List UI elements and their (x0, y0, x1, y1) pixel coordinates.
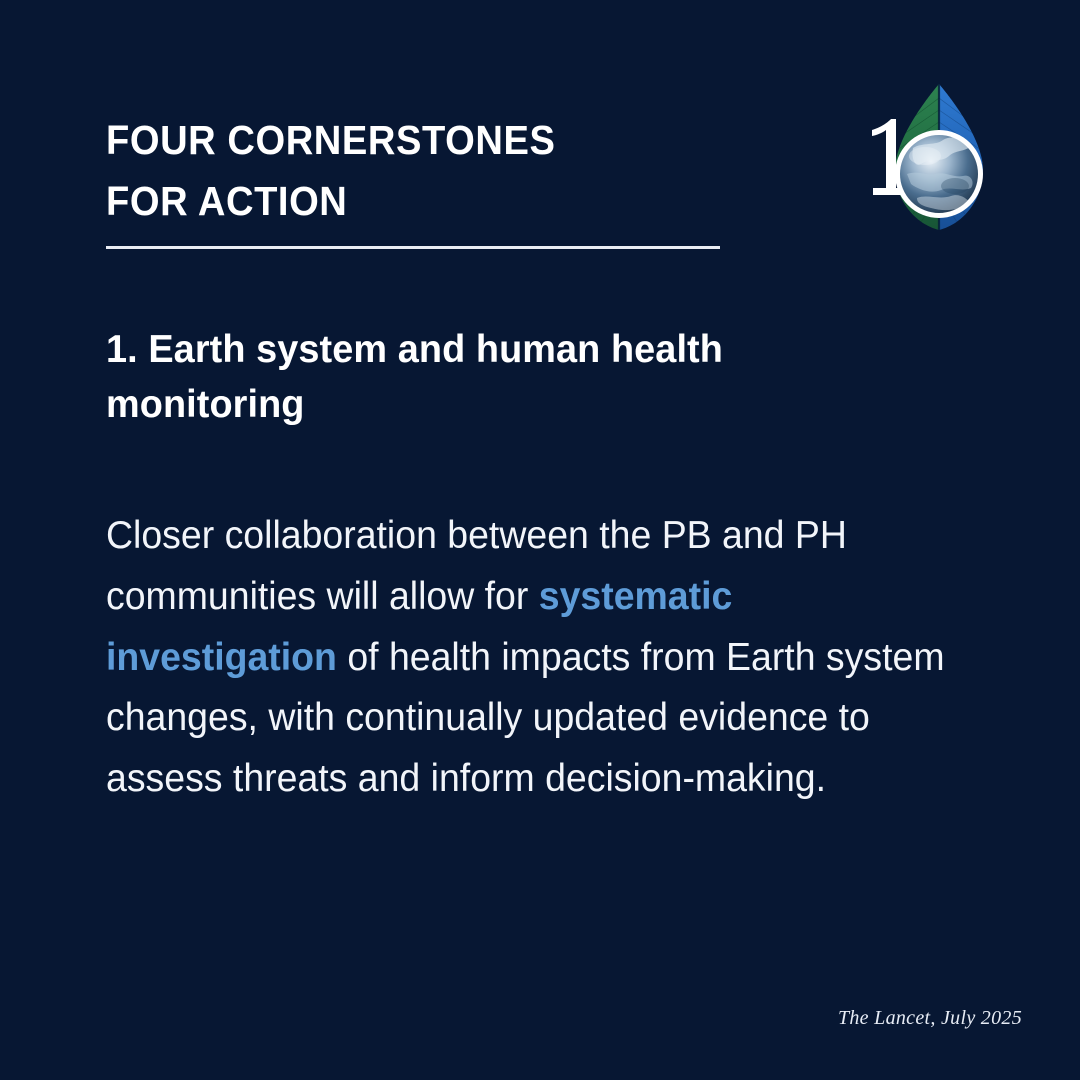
page-title: 1. Earth system and human health monitor… (106, 322, 882, 433)
header-title-block: FOUR CORNERSTONES FOR ACTION (106, 110, 766, 231)
body-paragraph: Closer collaboration between the PB and … (106, 506, 970, 810)
lancet-countdown-logo (855, 78, 1025, 238)
header-title-line-2: FOR ACTION (106, 171, 720, 232)
header-divider (106, 246, 720, 249)
header-title-line-1: FOUR CORNERSTONES (106, 110, 720, 171)
body-segment-1: Closer collaboration between the PB and … (106, 514, 847, 618)
source-attribution: The Lancet, July 2025 (838, 1007, 1022, 1030)
slide-card: FOUR CORNERSTONES FOR ACTION (0, 0, 1080, 1080)
earth-globe (898, 133, 981, 216)
